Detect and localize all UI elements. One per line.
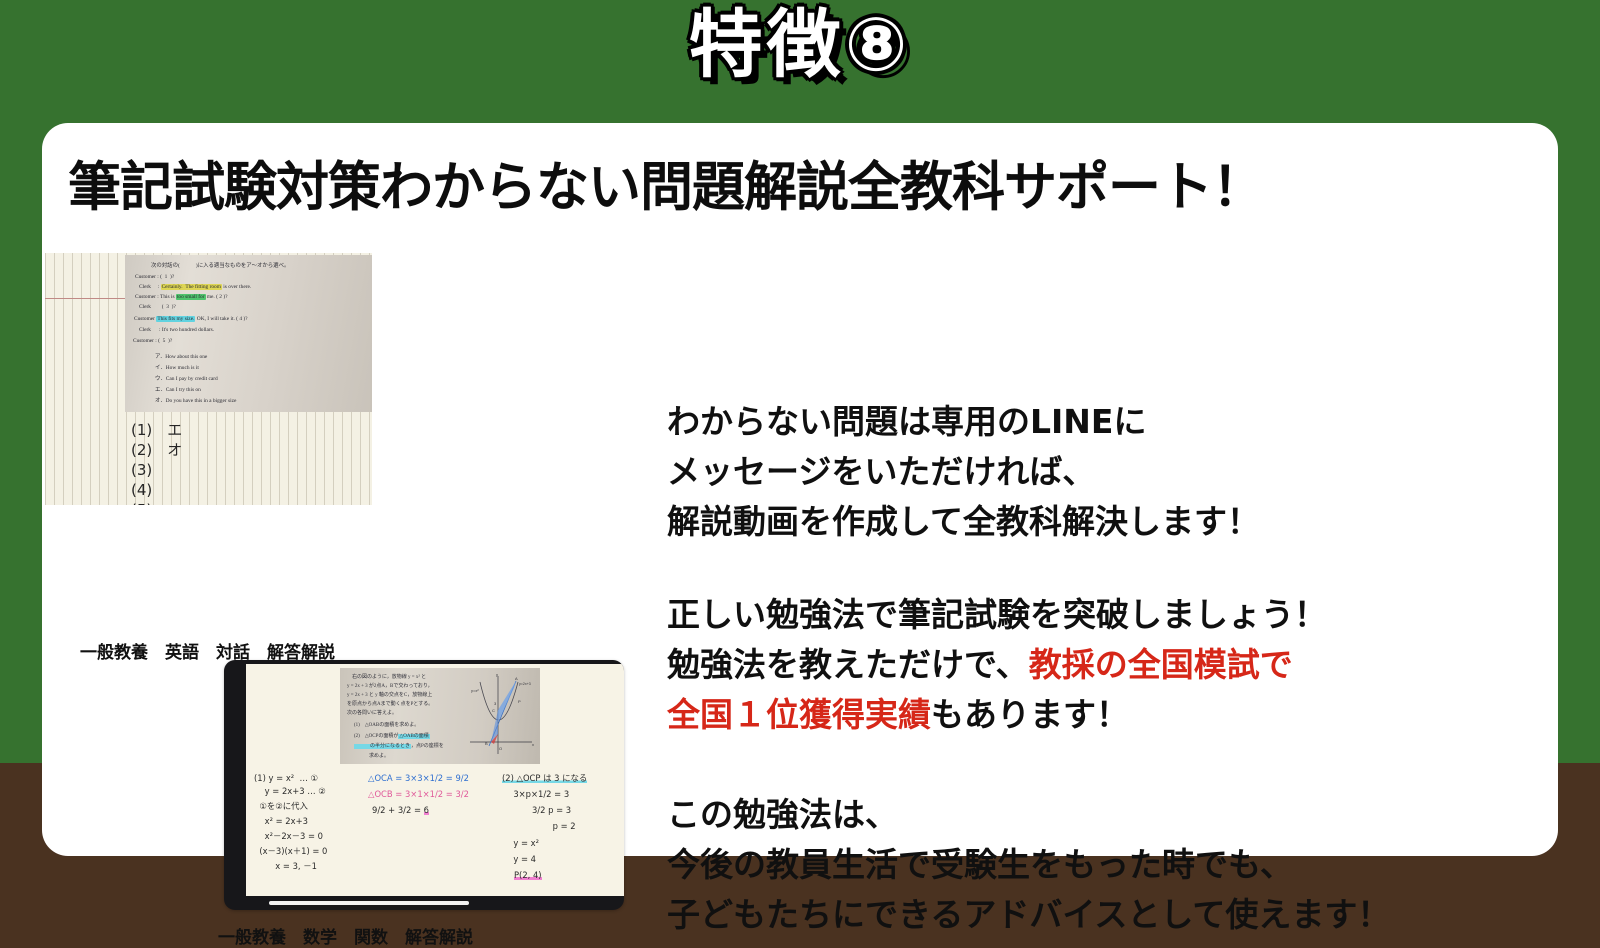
solution-line: p = 2: [526, 820, 576, 833]
paragraph-future-benefit: この勉強法は、 今後の教員生活で受験生をもった時でも、 子どもたちにできるアドバ…: [667, 790, 1390, 940]
problem-line: 求めよ。: [354, 753, 389, 761]
dialogue-line: Clerk ( 3 )?: [139, 303, 176, 312]
media-caption-math: 一般教養 数学 関数 解答解説: [218, 923, 473, 948]
paragraph-line: この勉強法は、: [667, 790, 1390, 840]
svg-text:B: B: [485, 741, 488, 746]
dialogue-line: Customer This fits my size. OK, I will t…: [134, 315, 248, 324]
problem-line: の半分になるとき，点Pの座標を: [354, 743, 444, 751]
paragraph-line: 子どもたちにできるアドバイスとして使えます！: [667, 890, 1390, 940]
dialogue-line: Customer : ( 5 )?: [133, 337, 172, 346]
solution-line: △OCA = 3×3×1/2 = 9/2: [368, 772, 469, 785]
highlight-cyan: △OABの面積: [398, 734, 429, 739]
problem-prompt: 次の対話の( )に入る適当なものをア～オから選べ。: [151, 262, 289, 271]
solution-line: (1) y = x² … ①: [254, 772, 318, 785]
text-plain: もあります！: [931, 695, 1129, 734]
tablet-home-indicator: [269, 901, 469, 905]
math-problem-photo: 右の図のように，放物線 y = x² と y = 2x + 3 が2点A，Bで交…: [340, 668, 540, 764]
solution-line: x²－2x－3 = 0: [254, 830, 323, 843]
handwritten-answer: (1) エ: [131, 420, 182, 441]
dialogue-line: Clerk : Certainly. The fitting room is o…: [139, 283, 251, 292]
solution-line: ①を②に代入: [254, 800, 308, 813]
svg-text:C: C: [492, 708, 495, 713]
handwritten-answer: (4): [131, 480, 152, 501]
tablet-screen: 右の図のように，放物線 y = x² と y = 2x + 3 が2点A，Bで交…: [246, 664, 624, 896]
handwritten-answer: (5): [131, 500, 152, 505]
paragraph-line: 正しい勉強法で筆記試験を突破しましょう！: [667, 590, 1327, 640]
paragraph-line: 勉強法を教えただけで、教採の全国模試で: [667, 640, 1327, 690]
choice-item: ア．How about this one: [155, 353, 207, 362]
text-plain: 勉強法を教えただけで、: [667, 645, 1029, 684]
highlight-green: too small for: [176, 294, 206, 300]
card-heading: 筆記試験対策わからない問題解説全教科サポート！: [68, 145, 1538, 221]
solution-line: △OCB = 3×1×1/2 = 3/2: [368, 788, 469, 801]
page-title-container: 特徴⑧: [0, 4, 1600, 87]
solution-line: 3/2 p = 3: [516, 804, 571, 817]
solution-line: y = 2x+3 … ②: [254, 785, 326, 798]
highlight-yellow: Certainly. The fitting room: [161, 284, 222, 290]
solution-line: y = 4: [508, 853, 536, 866]
highlight-pink: P(2, 4): [514, 870, 542, 880]
solution-line: x² = 2x+3: [254, 815, 308, 828]
problem-line: を原点から点Aまで動く点をPとする。: [347, 701, 433, 709]
dialogue-line: Customer : This is too small for me. ( 2…: [135, 293, 228, 302]
problem-line: 右の図のように，放物線 y = x² と: [352, 674, 426, 682]
english-problem-photo: 次の対話の( )に入る適当なものをア～オから選べ。 Customer : ( 1…: [125, 255, 372, 412]
choice-item: オ．Do you have this in a bigger size: [155, 397, 236, 406]
media-item-math-tablet: 右の図のように，放物線 y = x² と y = 2x + 3 が2点A，Bで交…: [224, 660, 624, 910]
solution-line: x = 3, －1: [254, 860, 317, 873]
svg-text:P: P: [518, 699, 521, 704]
paragraph-line: 全国１位獲得実績もあります！: [667, 690, 1327, 740]
problem-line: (1) △OABの面積を求めよ。: [354, 722, 419, 730]
problem-line: 次の各問いに答えよ。: [347, 710, 397, 718]
solution-line: y = x²: [508, 837, 539, 850]
text-highlight-red: 教採の全国模試で: [1029, 645, 1293, 684]
problem-line: y = 2x + 3 と y 軸の交点をC，放物線上: [347, 692, 432, 700]
solution-line: 3×p×1/2 = 3: [508, 788, 569, 801]
svg-text:O: O: [499, 746, 502, 751]
choice-item: イ．How much is it: [155, 364, 199, 373]
page-title: 特徴⑧: [689, 4, 912, 87]
paragraph-line: 今後の教員生活で受験生をもった時でも、: [667, 840, 1390, 890]
content-card: 筆記試験対策わからない問題解説全教科サポート！ 次の対話の( )に入る適当なもの…: [42, 123, 1558, 856]
dialogue-line: Clerk : It's two hundred dollars.: [139, 326, 214, 335]
paragraph-line: 解説動画を作成して全教科解決します！: [667, 497, 1260, 547]
paragraph-service-description: わからない問題は専用のLINEに メッセージをいただければ、 解説動画を作成して…: [667, 397, 1260, 547]
solution-line: (2) △OCP は 3 になる: [502, 772, 587, 785]
svg-text:y=2x+3: y=2x+3: [519, 682, 531, 686]
highlight-cyan: の半分になるとき: [354, 744, 411, 749]
svg-text:3: 3: [494, 701, 497, 706]
svg-text:y=x²: y=x²: [471, 688, 479, 693]
highlight-cyan: This fits my size.: [156, 316, 195, 322]
highlight-cyan: (2) △OCP は 3 になる: [502, 773, 587, 783]
handwritten-answer: (3): [131, 460, 152, 481]
solution-line: (x－3)(x＋1) = 0: [254, 845, 327, 858]
svg-text:A: A: [515, 676, 518, 681]
parabola-graph: y x A P C O B y=x² y=2x+3 3: [458, 672, 536, 760]
paragraph-line: メッセージをいただければ、: [667, 447, 1260, 497]
problem-line: (2) △OCPの面積が△OABの面積: [354, 733, 430, 741]
problem-line: y = 2x + 3 が2点A，Bで交わっており，: [347, 683, 433, 691]
choice-item: エ．Can I try this on: [155, 386, 201, 395]
paragraph-line: わからない問題は専用のLINEに: [667, 397, 1260, 447]
svg-text:y: y: [496, 672, 498, 677]
dialogue-line: Customer : ( 1 )?: [135, 273, 174, 282]
handwritten-answer: (2) オ: [131, 440, 182, 461]
highlight-pink: 6: [424, 805, 429, 815]
svg-text:x: x: [532, 742, 534, 747]
paragraph-achievement: 正しい勉強法で筆記試験を突破しましょう！ 勉強法を教えただけで、教採の全国模試で…: [667, 590, 1327, 740]
solution-line: P(2, 4): [514, 869, 542, 882]
choice-item: ウ．Can I pay by credit card: [155, 375, 218, 384]
text-highlight-red: 全国１位獲得実績: [667, 695, 931, 734]
media-item-english-notebook: 次の対話の( )に入る適当なものをア～オから選べ。 Customer : ( 1…: [45, 253, 372, 505]
solution-line: 9/2 + 3/2 = 6: [372, 804, 429, 817]
